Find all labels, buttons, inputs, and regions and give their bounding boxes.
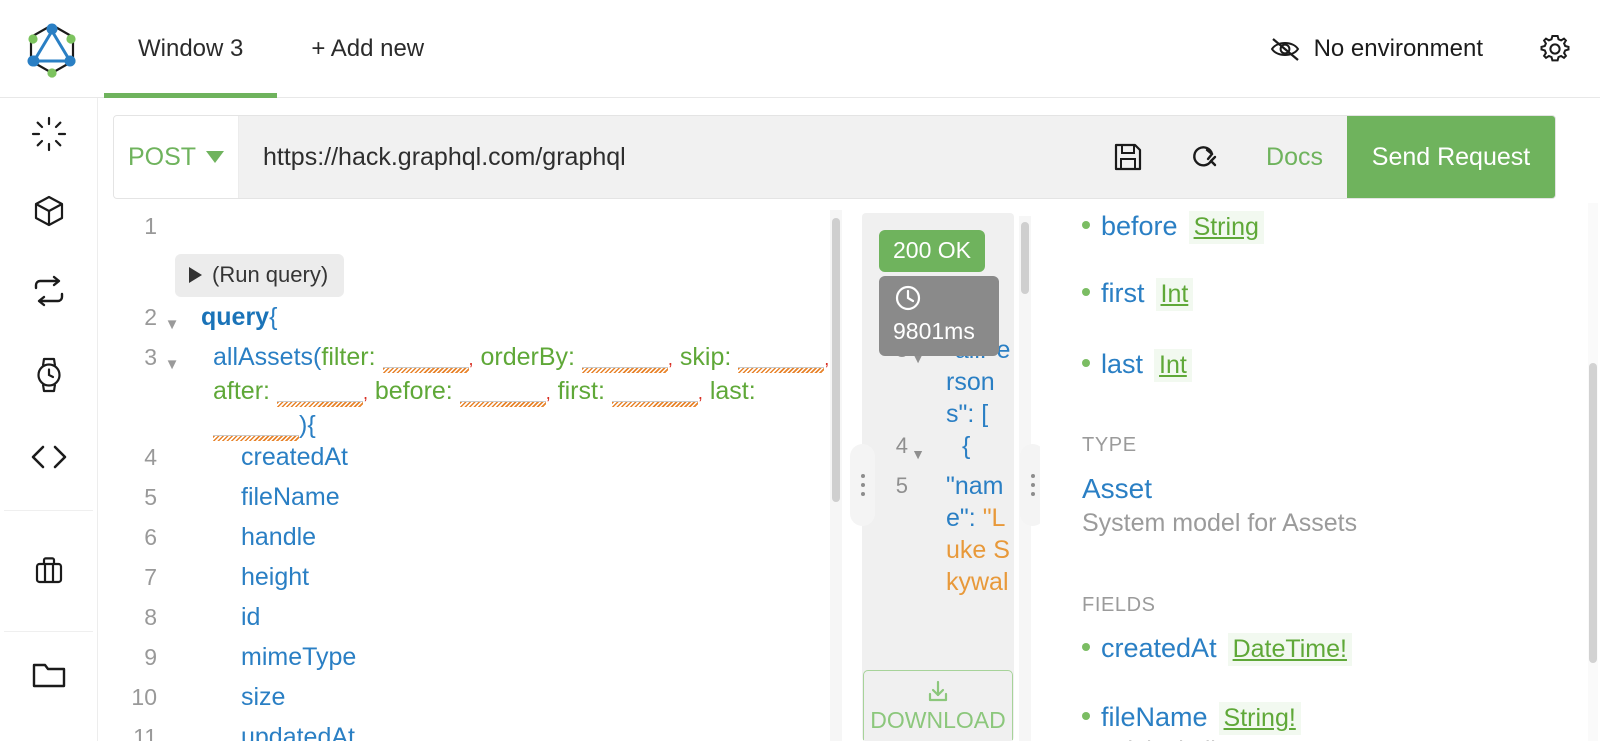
- floppy-disk-icon: [1111, 140, 1145, 174]
- query-editor[interactable]: 1 ▼ (Run query) 2 ▼ query{ 3 ▼ allAssets…: [113, 210, 843, 741]
- response-panel[interactable]: 1 ▼ { 2 ▼ "data": { 3 ▼ "allPersons": [ …: [862, 213, 1014, 741]
- sidebar-item-schema[interactable]: [0, 170, 98, 252]
- line-number: 6: [113, 521, 161, 553]
- environment-label: No environment: [1314, 35, 1483, 63]
- docs-fields-section-header: FIELDS: [1082, 594, 1600, 617]
- arg-skip: skip:: [680, 343, 731, 371]
- arg-value-orderBy[interactable]: [582, 367, 668, 368]
- reload-docs-button[interactable]: [1166, 116, 1242, 198]
- line-number: 8: [113, 601, 161, 633]
- arg-first: first:: [558, 377, 605, 405]
- sidebar-item-files[interactable]: [0, 632, 98, 714]
- editor-scrollbar-thumb[interactable]: [832, 218, 840, 502]
- doc-field-fileName[interactable]: fileName String!: [1082, 702, 1600, 735]
- docs-type-name[interactable]: Asset: [1082, 473, 1600, 505]
- status-badge: 200 OK: [879, 230, 985, 272]
- field-handle: handle: [183, 521, 843, 553]
- doc-arg-type[interactable]: Int: [1154, 349, 1192, 382]
- sidebar-item-pre-request[interactable]: [0, 416, 98, 498]
- editor-line-5: 5 ▼ fileName: [113, 481, 843, 521]
- editor-line-4: 4 ▼ createdAt: [113, 441, 843, 481]
- doc-field-name: fileName: [1101, 702, 1208, 733]
- arg-value-last[interactable]: [213, 435, 299, 436]
- editor-line-11: 11 ▼ updatedAt: [113, 721, 843, 741]
- docs-type-description: System model for Assets: [1082, 509, 1600, 538]
- doc-arg-first[interactable]: first Int: [1082, 278, 1600, 311]
- folder-icon: [29, 656, 69, 690]
- arg-before: before:: [375, 377, 453, 405]
- editor-line-6: 6 ▼ handle: [113, 521, 843, 561]
- docs-panel[interactable]: before String first Int last Int TYPE As…: [1040, 203, 1600, 741]
- line-number: 11: [113, 721, 161, 741]
- sidebar-item-collections[interactable]: [0, 511, 98, 631]
- response-splitter-left[interactable]: [850, 444, 875, 526]
- line-number: 4: [113, 441, 161, 473]
- bullet-icon: [1082, 643, 1090, 651]
- field-size: size: [183, 681, 843, 713]
- drag-handle-icon: [861, 474, 865, 496]
- gear-icon: [1538, 32, 1572, 66]
- field-updatedAt: updatedAt: [183, 721, 843, 741]
- bullet-icon: [1082, 288, 1090, 296]
- arg-value-before[interactable]: [460, 401, 546, 402]
- arg-value-skip[interactable]: [738, 367, 824, 368]
- editor-line-1: 1 ▼: [113, 210, 843, 250]
- fold-toggle[interactable]: ▼: [908, 430, 928, 470]
- code-brackets-icon: [27, 442, 71, 472]
- graphql-logo-icon: [23, 18, 81, 80]
- doc-field-description: Original File Name: [1101, 737, 1600, 741]
- field-height: height: [183, 561, 843, 593]
- window-tabs: Window 3 + Add new: [104, 0, 458, 98]
- refresh-icon: [1186, 140, 1222, 174]
- cube-icon: [29, 191, 69, 231]
- field-createdAt: createdAt: [183, 441, 843, 473]
- request-bar: POST https://hack.graphql.com/graphql Do…: [113, 115, 1556, 199]
- docs-scrollbar-thumb[interactable]: [1589, 363, 1597, 663]
- eye-slash-icon: [1269, 36, 1301, 62]
- editor-line-10: 10 ▼ size: [113, 681, 843, 721]
- app-logo[interactable]: [0, 0, 104, 98]
- query-keyword: query: [201, 303, 269, 331]
- url-input[interactable]: https://hack.graphql.com/graphql: [239, 116, 1090, 198]
- doc-arg-type[interactable]: Int: [1156, 278, 1194, 311]
- docs-label: Docs: [1266, 143, 1323, 172]
- doc-field-createdAt[interactable]: createdAt DateTime!: [1082, 633, 1600, 666]
- line-number: 5: [113, 481, 161, 513]
- add-new-label: + Add new: [311, 35, 424, 63]
- repeat-icon: [28, 273, 70, 313]
- sidebar-item-loading[interactable]: [0, 98, 98, 170]
- arg-value-first[interactable]: [612, 401, 698, 402]
- doc-arg-name: first: [1101, 278, 1145, 309]
- field-mimeType: mimeType: [183, 641, 843, 673]
- line-number: 1: [113, 210, 161, 242]
- http-method-selector[interactable]: POST: [114, 116, 239, 198]
- send-request-label: Send Request: [1372, 143, 1530, 172]
- response-line-4: 4 ▼ {: [868, 430, 1014, 470]
- doc-arg-last[interactable]: last Int: [1082, 349, 1600, 382]
- http-method-label: POST: [128, 143, 196, 172]
- docs-button[interactable]: Docs: [1242, 116, 1347, 198]
- editor-line-9: 9 ▼ mimeType: [113, 641, 843, 681]
- editor-line-7: 7 ▼ height: [113, 561, 843, 601]
- fold-toggle[interactable]: ▼: [161, 301, 183, 341]
- watch-icon: [31, 354, 67, 396]
- response-status-badges: 200 OK 9801ms: [879, 230, 999, 356]
- arg-after: after:: [213, 377, 270, 405]
- docs-scrollbar[interactable]: [1588, 203, 1598, 741]
- download-response-button[interactable]: DOWNLOAD: [863, 670, 1013, 741]
- json-bracket: [: [981, 400, 988, 428]
- left-rail: [0, 98, 98, 741]
- sidebar-item-subscriptions[interactable]: [0, 252, 98, 334]
- doc-arg-before[interactable]: before String: [1082, 211, 1600, 244]
- drag-handle-icon: [1031, 474, 1035, 496]
- response-line-5: 5 ▼ "name": "Luke Skywal: [868, 470, 1014, 598]
- doc-field-type[interactable]: DateTime!: [1228, 633, 1352, 666]
- response-scrollbar-thumb[interactable]: [1021, 222, 1029, 294]
- bullet-icon: [1082, 359, 1090, 367]
- json-brace: {: [928, 430, 1014, 462]
- operation-name: allAssets: [213, 343, 313, 371]
- tab-label: Window 3: [138, 35, 243, 63]
- doc-arg-type[interactable]: String: [1189, 211, 1264, 244]
- sidebar-item-history[interactable]: [0, 334, 98, 416]
- add-new-tab-button[interactable]: + Add new: [277, 0, 458, 98]
- arg-last: last:: [710, 377, 756, 405]
- top-bar-right: No environment: [1269, 32, 1600, 66]
- run-query-label: (Run query): [212, 259, 328, 291]
- settings-button[interactable]: [1538, 32, 1572, 66]
- run-query-button[interactable]: (Run query): [175, 254, 344, 297]
- url-value: https://hack.graphql.com/graphql: [263, 143, 626, 172]
- arg-filter: filter:: [321, 343, 375, 371]
- environment-selector[interactable]: No environment: [1269, 35, 1483, 63]
- doc-arg-name: last: [1101, 349, 1143, 380]
- field-fileName: fileName: [183, 481, 843, 513]
- editor-line-8: 8 ▼ id: [113, 601, 843, 641]
- save-query-button[interactable]: [1090, 116, 1166, 198]
- editor-line-2: 2 ▼ query{: [113, 301, 843, 341]
- top-bar: Window 3 + Add new No environment: [0, 0, 1600, 98]
- tab-window-3[interactable]: Window 3: [104, 0, 277, 98]
- line-number: 2: [113, 301, 161, 333]
- doc-field-name: createdAt: [1101, 633, 1217, 664]
- editor-line-3: 3 ▼ allAssets(filter: , orderBy: , skip:…: [113, 341, 843, 441]
- send-request-button[interactable]: Send Request: [1347, 116, 1555, 198]
- arg-orderBy: orderBy:: [480, 343, 574, 371]
- spinner-icon: [30, 115, 68, 153]
- chevron-down-icon: [206, 151, 224, 163]
- clock-icon: [893, 283, 923, 313]
- request-actions: Docs Send Request: [1090, 116, 1555, 198]
- response-time-badge: 9801ms: [879, 276, 999, 356]
- arg-value-after[interactable]: [277, 401, 363, 402]
- response-time-label: 9801ms: [893, 315, 975, 347]
- arg-value-filter[interactable]: [383, 367, 469, 368]
- briefcase-icon: [30, 553, 68, 589]
- download-label: DOWNLOAD: [870, 707, 1005, 733]
- open-brace: {: [269, 303, 277, 331]
- doc-field-type[interactable]: String!: [1219, 702, 1301, 735]
- play-icon: [189, 267, 202, 283]
- docs-type-section-header: TYPE: [1082, 434, 1600, 457]
- fold-toggle[interactable]: ▼: [161, 341, 183, 381]
- line-number: 3: [113, 341, 161, 373]
- bullet-icon: [1082, 221, 1090, 229]
- open-brace-2: {: [307, 411, 315, 439]
- field-id: id: [183, 601, 843, 633]
- editor-scrollbar[interactable]: [830, 210, 842, 741]
- line-number: 7: [113, 561, 161, 593]
- line-number: 10: [113, 681, 161, 713]
- line-number: 9: [113, 641, 161, 673]
- download-icon: [924, 679, 952, 705]
- doc-arg-name: before: [1101, 211, 1178, 242]
- bullet-icon: [1082, 712, 1090, 720]
